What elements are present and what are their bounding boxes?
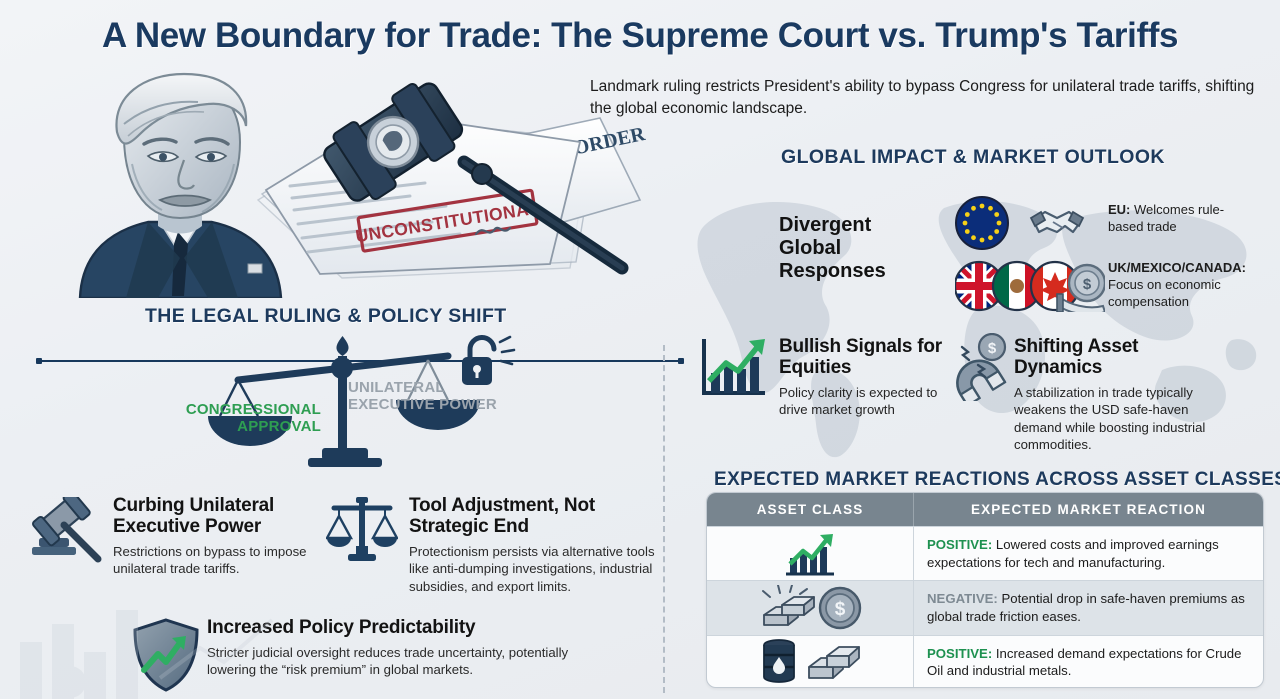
feature-bullish-equities: Bullish Signals for Equities Policy clar…: [779, 337, 945, 419]
reaction-tag: POSITIVE:: [927, 646, 992, 661]
page-title: A New Boundary for Trade: The Supreme Co…: [0, 16, 1280, 56]
gavel-icon: [30, 497, 104, 563]
equities-growth-chart-icon: [784, 532, 836, 576]
global-section-heading: GLOBAL IMPACT & MARKET OUTLOOK: [781, 146, 1165, 169]
divergent-global-responses-title: Divergent Global Responses: [779, 214, 929, 282]
bullet-curbing-executive-power: Curbing Unilateral Executive Power Restr…: [113, 496, 338, 578]
bullet-tool-adjustment: Tool Adjustment, Not Strategic End Prote…: [409, 496, 659, 595]
balance-scale-graphic: CONGRESSIONAL APPROVAL UNILATERAL EXECUT…: [180, 330, 540, 480]
cell-asset-icon: [707, 527, 914, 580]
cell-reaction: NEGATIVE: Potential drop in safe-haven p…: [914, 581, 1263, 634]
cell-reaction: POSITIVE: Lowered costs and improved ear…: [914, 527, 1263, 580]
growth-chart-icon: [699, 337, 769, 399]
oil-barrel-metal-bars-icon: [755, 639, 865, 685]
cell-asset-icon: $: [707, 581, 914, 634]
table-header-row: ASSET CLASS EXPECTED MARKET REACTION: [707, 493, 1263, 526]
scales-icon: [326, 494, 398, 562]
scale-label-congressional: CONGRESSIONAL APPROVAL: [146, 402, 321, 436]
bullet-title: Tool Adjustment, Not Strategic End: [409, 496, 659, 538]
eu-response-icons: [955, 196, 1105, 250]
cell-asset-icon: [707, 636, 914, 688]
gavel-and-documents-illustration: EXECUTIVE ORDER TARIFFS UNCONSTITUTIONAL: [250, 82, 670, 298]
svg-text:$: $: [1083, 276, 1092, 293]
reaction-tag: NEGATIVE:: [927, 591, 998, 606]
feature-desc: A stabilization in trade typically weake…: [1014, 384, 1214, 454]
feature-title: Bullish Signals for Equities: [779, 337, 945, 379]
oil-barrel: [764, 640, 794, 682]
feature-title: Shifting Asset Dynamics: [1014, 337, 1214, 379]
cell-reaction: POSITIVE: Increased demand expectations …: [914, 636, 1263, 688]
ukm-label: UK/MEXICO/CANADA:: [1108, 260, 1246, 275]
magnet-dollar-icon: $: [940, 333, 1010, 401]
metal-bars: [809, 647, 859, 678]
column-header-asset-class: ASSET CLASS: [707, 493, 914, 526]
ukmexcan-response-text: UK/MEXICO/CANADA: Focus on economic comp…: [1108, 260, 1268, 311]
background-chart-watermark: [10, 590, 340, 699]
svg-text:$: $: [835, 599, 846, 620]
page-subtitle: Landmark ruling restricts President's ab…: [590, 76, 1258, 120]
hero-illustration: EXECUTIVE ORDER TARIFFS UNCONSTITUTIONAL: [18, 64, 668, 299]
handshake-icon: [1031, 212, 1083, 232]
ukmexcan-response-icons: $: [955, 256, 1105, 312]
eu-label: EU:: [1108, 202, 1130, 217]
section-divider: [663, 345, 665, 693]
feature-desc: Policy clarity is expected to drive mark…: [779, 384, 945, 419]
eu-response-text: EU: Welcomes rule-based trade: [1108, 202, 1258, 236]
reaction-tag: POSITIVE:: [927, 537, 992, 552]
eu-flag-icon: [956, 197, 1008, 249]
bullet-title: Curbing Unilateral Executive Power: [113, 496, 338, 538]
feature-shifting-assets: Shifting Asset Dynamics A stabilization …: [1014, 337, 1214, 453]
table-row: POSITIVE: Lowered costs and improved ear…: [707, 526, 1263, 580]
legal-section-heading: THE LEGAL RULING & POLICY SHIFT: [145, 305, 507, 328]
table-heading: EXPECTED MARKET REACTIONS ACROSS ASSET C…: [714, 469, 1280, 491]
market-reactions-table: ASSET CLASS EXPECTED MARKET REACTION: [706, 492, 1264, 688]
bullet-desc: Restrictions on bypass to impose unilate…: [113, 543, 338, 578]
column-header-expected-reaction: EXPECTED MARKET REACTION: [914, 493, 1263, 526]
scale-label-executive: UNILATERAL EXECUTIVE POWER: [348, 380, 528, 414]
infographic-canvas: A New Boundary for Trade: The Supreme Co…: [0, 0, 1280, 699]
table-row: $ NEGATIVE: Potential drop in safe-haven…: [707, 580, 1263, 634]
svg-text:$: $: [988, 340, 997, 357]
bullet-desc: Protectionism persists via alternative t…: [409, 543, 659, 595]
table-row: POSITIVE: Increased demand expectations …: [707, 635, 1263, 688]
ukm-body: Focus on economic compensation: [1108, 277, 1221, 309]
gold-bars-dollar-coin-icon: $: [756, 585, 864, 631]
